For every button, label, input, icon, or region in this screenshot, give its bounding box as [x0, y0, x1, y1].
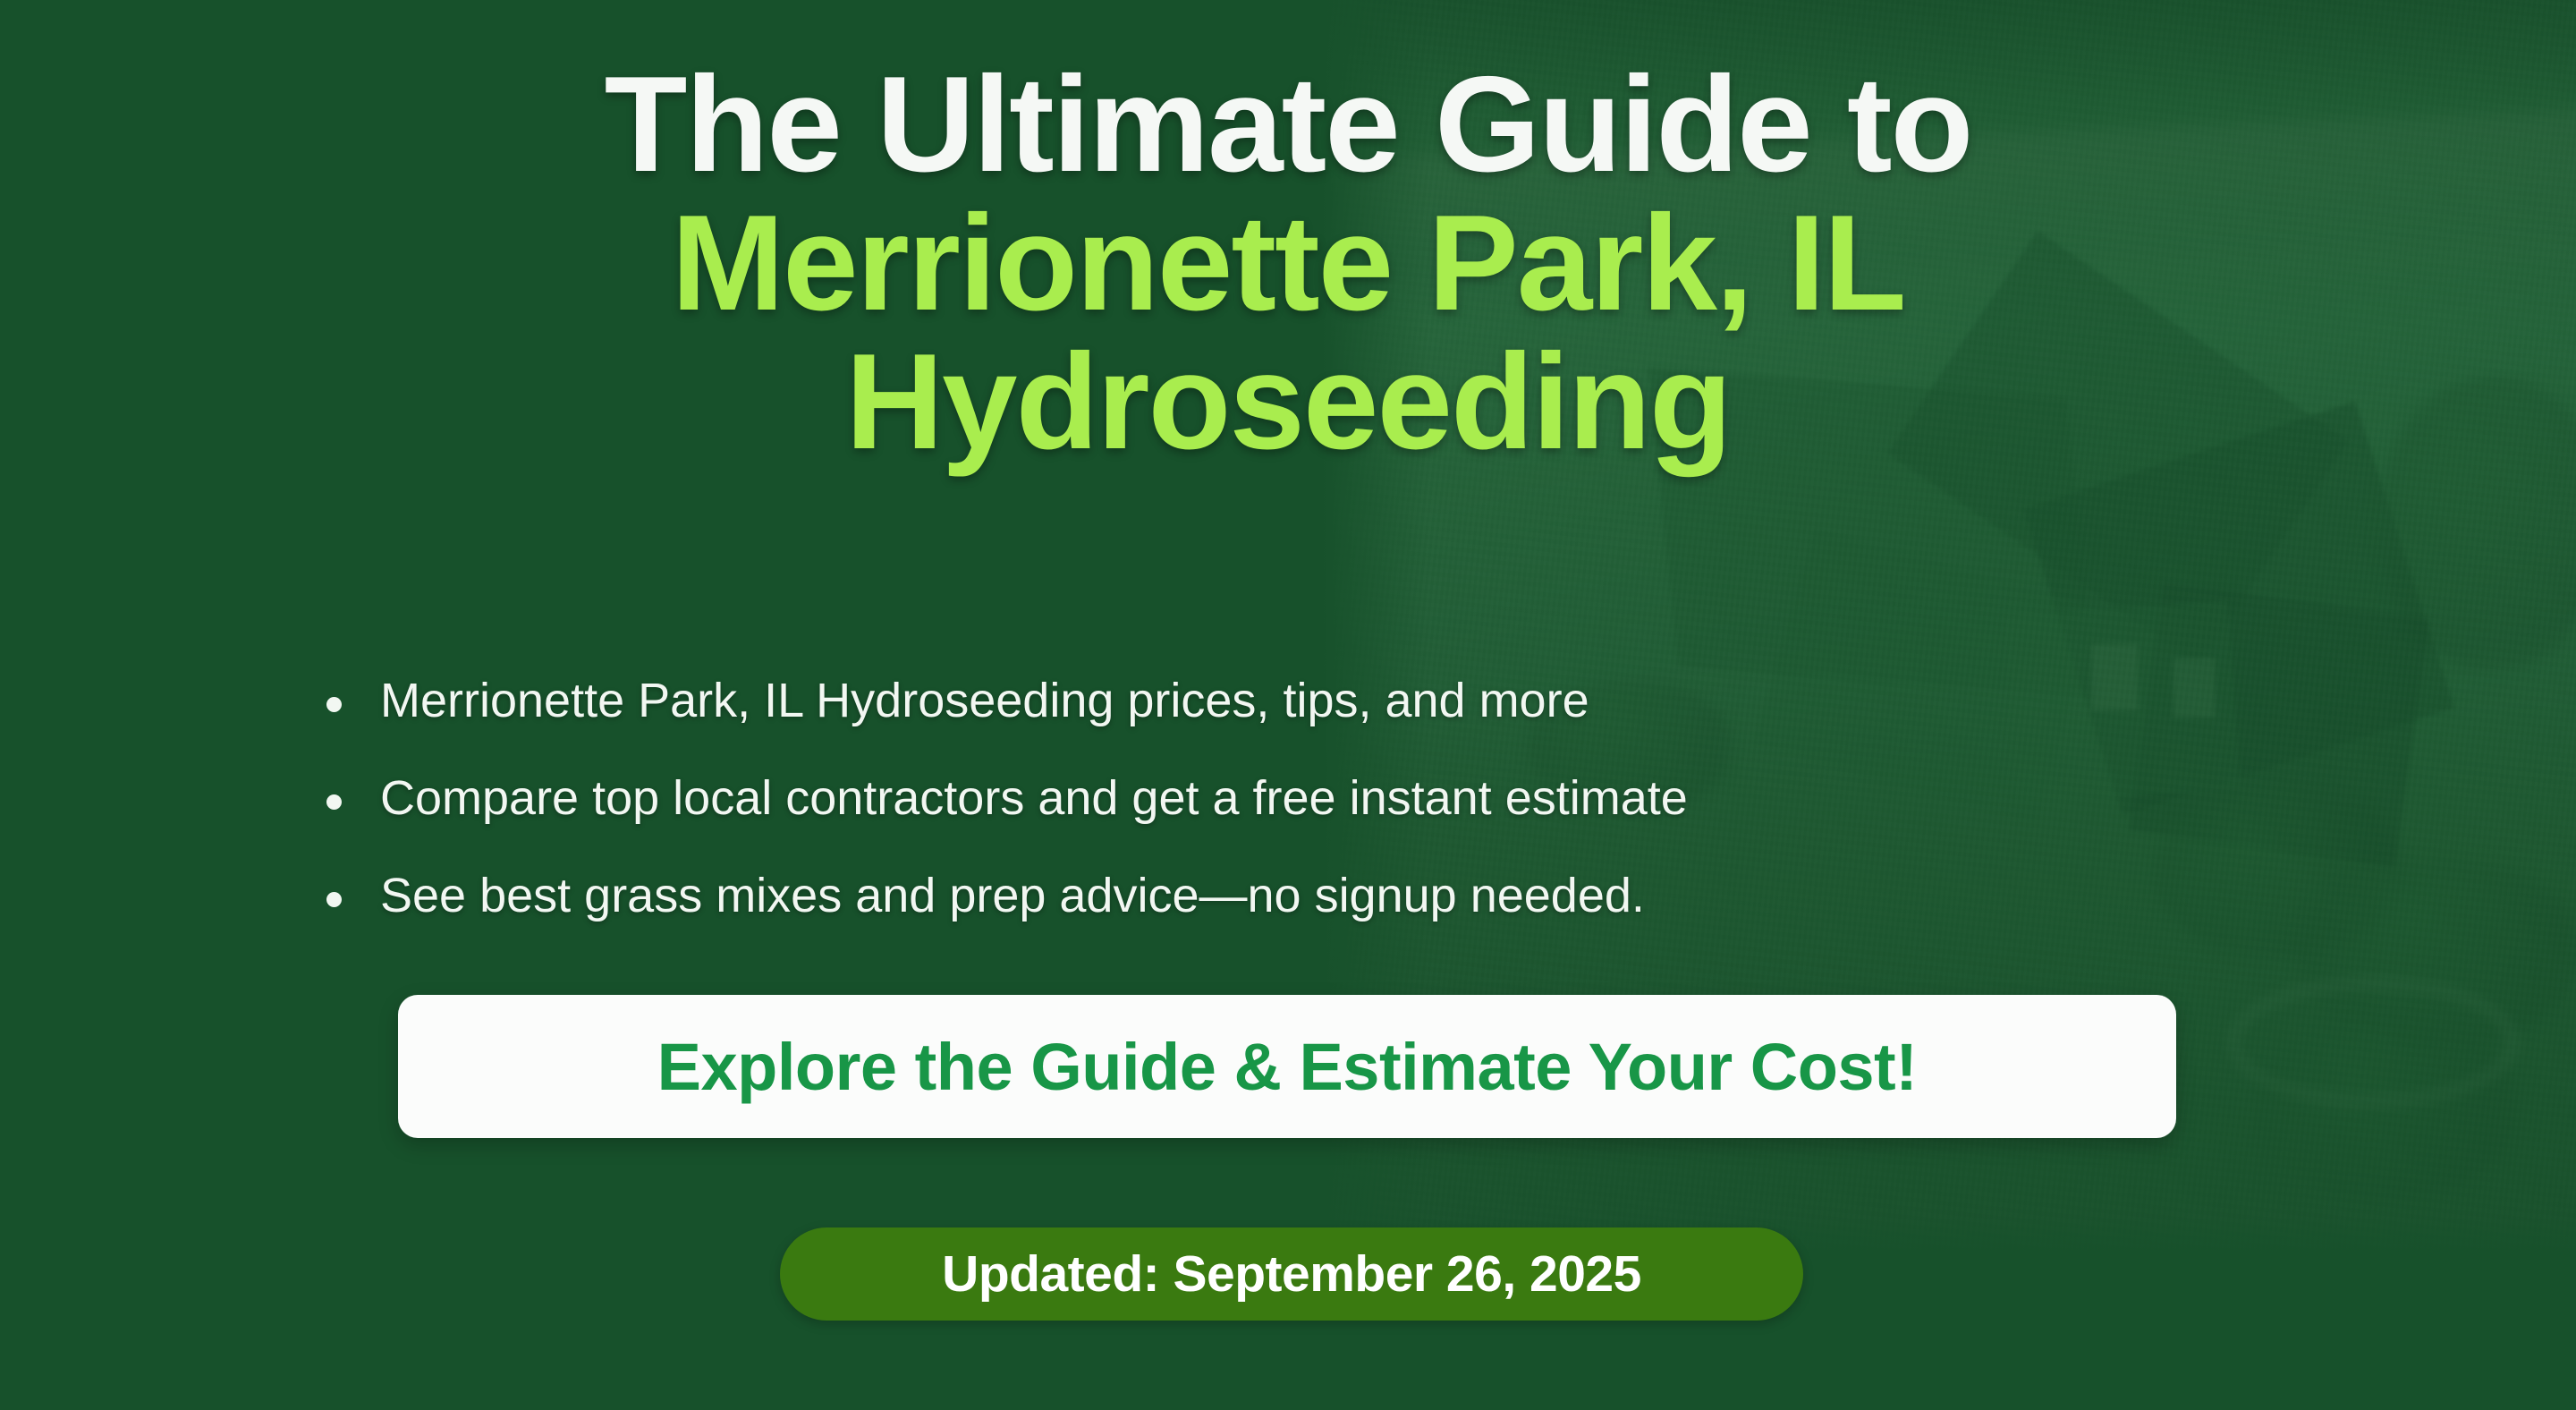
- page-title: The Ultimate Guide to Merrionette Park, …: [0, 55, 2576, 471]
- hero-banner: The Ultimate Guide to Merrionette Park, …: [0, 0, 2576, 1410]
- title-line-1: The Ultimate Guide to: [0, 55, 2576, 194]
- title-line-2: Merrionette Park, IL: [0, 194, 2576, 333]
- list-item: See best grass mixes and prep advice—no …: [322, 871, 1688, 922]
- title-line-3: Hydroseeding: [0, 333, 2576, 471]
- explore-guide-cta-button[interactable]: Explore the Guide & Estimate Your Cost!: [398, 995, 2176, 1138]
- updated-date-badge: Updated: September 26, 2025: [780, 1227, 1803, 1321]
- list-item: Compare top local contractors and get a …: [322, 773, 1688, 825]
- hero-content: The Ultimate Guide to Merrionette Park, …: [0, 0, 2576, 1410]
- list-item: Merrionette Park, IL Hydroseeding prices…: [322, 675, 1688, 727]
- benefit-list: Merrionette Park, IL Hydroseeding prices…: [322, 675, 1688, 967]
